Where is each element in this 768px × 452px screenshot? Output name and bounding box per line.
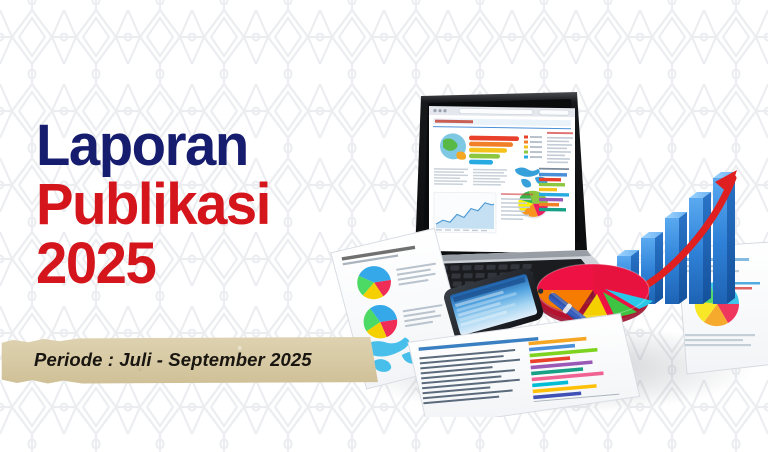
title-line-year: 2025	[36, 236, 270, 293]
title-line-laporan: Laporan	[36, 118, 270, 175]
business-analytics-illustration	[325, 72, 768, 417]
cover-title: Laporan Publikasi 2025	[36, 118, 277, 292]
period-banner-label: Periode : Juli - September 2025	[34, 336, 312, 384]
title-line-publikasi: Publikasi	[36, 177, 270, 234]
publication-report-cover: Laporan Publikasi 2025 Periode : Juli - …	[0, 0, 768, 452]
period-banner: Periode : Juli - September 2025	[0, 336, 378, 384]
